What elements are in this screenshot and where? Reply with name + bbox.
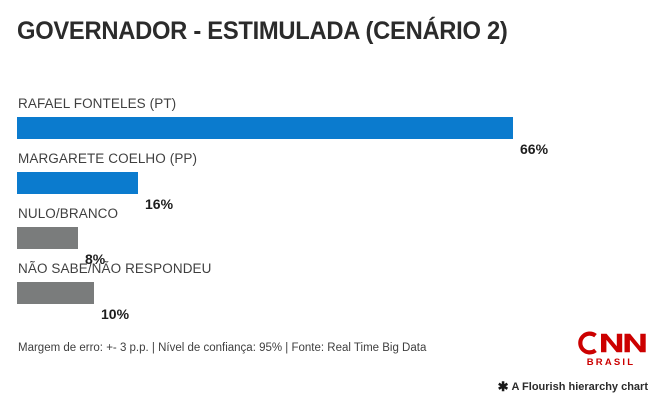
bar-fill[interactable]: [17, 117, 513, 139]
cnn-logo-icon: [574, 330, 648, 356]
bar-category-label: NULO/BRANCO: [18, 206, 118, 221]
bar-fill[interactable]: [17, 282, 94, 304]
bar-value-label: 10%: [101, 304, 129, 324]
bar-category-label: RAFAEL FONTELES (PT): [18, 96, 176, 111]
bar-fill[interactable]: [17, 172, 138, 194]
flourish-credit[interactable]: ✱ A Flourish hierarchy chart: [498, 380, 648, 393]
bar-row[interactable]: NULO/BRANCO 8%: [0, 206, 665, 261]
bar-category-label: MARGARETE COELHO (PP): [18, 151, 197, 166]
bar-row[interactable]: MARGARETE COELHO (PP) 16%: [0, 151, 665, 206]
bar-row[interactable]: RAFAEL FONTELES (PT) 66%: [0, 96, 665, 151]
flourish-credit-label: A Flourish hierarchy chart: [511, 381, 648, 393]
bar-chart-plot-area: RAFAEL FONTELES (PT) 66% MARGARETE COELH…: [0, 96, 665, 316]
bar-track: 8%: [17, 227, 648, 249]
bar-track: 16%: [17, 172, 648, 194]
cnn-brasil-logo: BRASIL: [574, 330, 648, 368]
bar-track: 10%: [17, 282, 648, 304]
bar-track: 66%: [17, 117, 648, 139]
bar-fill[interactable]: [17, 227, 78, 249]
footnote-text: Margem de erro: +- 3 p.p. | Nível de con…: [18, 342, 426, 354]
chart-container: GOVERNADOR - ESTIMULADA (CENÁRIO 2) RAFA…: [0, 0, 665, 410]
cnn-logo-subtext: BRASIL: [574, 357, 648, 368]
page-title: GOVERNADOR - ESTIMULADA (CENÁRIO 2): [17, 17, 508, 46]
bar-row[interactable]: NÃO SABE/NÃO RESPONDEU 10%: [0, 261, 665, 316]
flourish-asterisk-icon: ✱: [498, 380, 509, 393]
bar-category-label: NÃO SABE/NÃO RESPONDEU: [18, 261, 212, 276]
